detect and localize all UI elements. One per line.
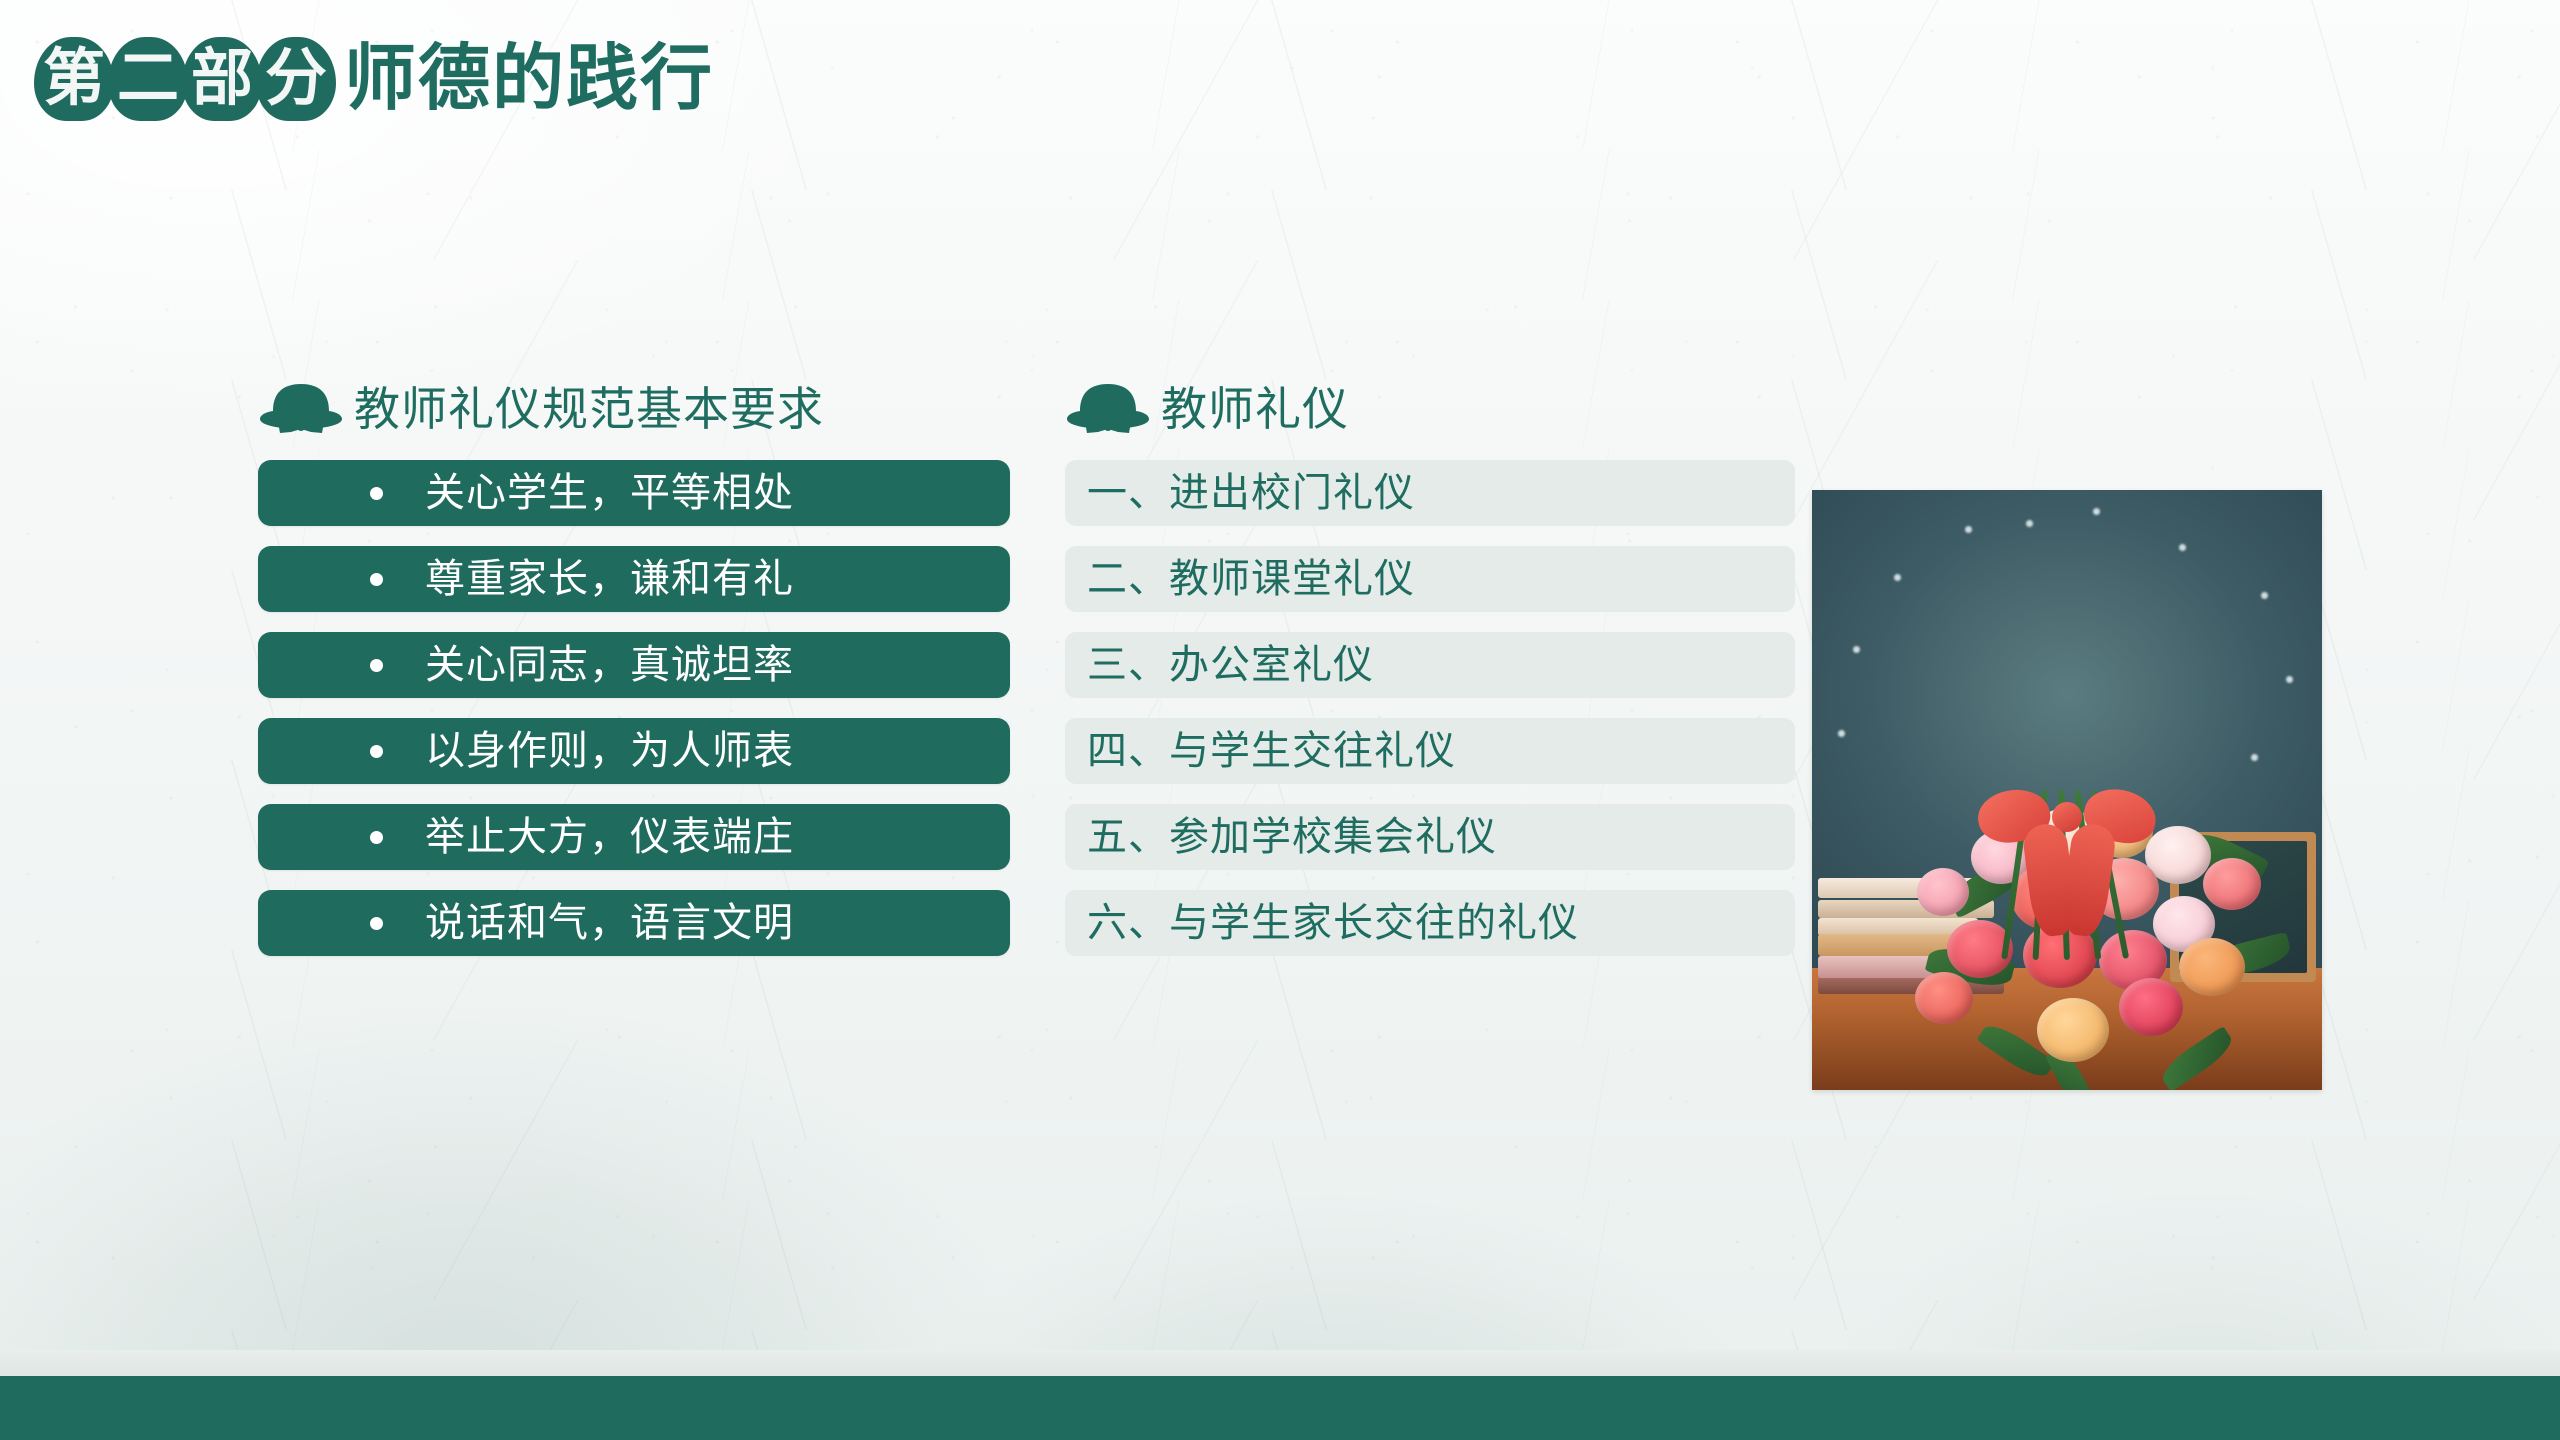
list-item-label: 关心学生，平等相处 — [425, 460, 794, 526]
bullet-dot-icon — [370, 487, 383, 500]
fedora-hat-icon — [258, 381, 344, 437]
list-item[interactable]: 尊重家长，谦和有礼 — [258, 546, 1010, 612]
list-item-label: 五、参加学校集会礼仪 — [1087, 804, 1497, 870]
list-item-label: 说话和气，语言文明 — [425, 890, 794, 956]
list-item[interactable]: 六、与学生家长交往的礼仪 — [1065, 890, 1795, 956]
left-column: 教师礼仪规范基本要求 关心学生，平等相处 尊重家长，谦和有礼 关心同志，真诚坦率… — [258, 378, 1010, 976]
list-item[interactable]: 以身作则，为人师表 — [258, 718, 1010, 784]
bullet-dot-icon — [370, 831, 383, 844]
list-item-label: 二、教师课堂礼仪 — [1087, 546, 1415, 612]
list-item-label: 六、与学生家长交往的礼仪 — [1087, 890, 1579, 956]
list-item[interactable]: 二、教师课堂礼仪 — [1065, 546, 1795, 612]
title-badge-3: 部 — [182, 37, 262, 121]
title-badge-2: 二 — [108, 37, 188, 121]
footer-light-band — [0, 1350, 2560, 1376]
list-item-label: 一、进出校门礼仪 — [1087, 460, 1415, 526]
title-badge-1: 第 — [34, 37, 114, 121]
title-subject: 师德的践行 — [344, 37, 714, 121]
list-item[interactable]: 四、与学生交往礼仪 — [1065, 718, 1795, 784]
bullet-dot-icon — [370, 917, 383, 930]
rose-bouquet-photo — [1812, 490, 2322, 1090]
list-item[interactable]: 五、参加学校集会礼仪 — [1065, 804, 1795, 870]
list-item-label: 关心同志，真诚坦率 — [425, 632, 794, 698]
list-item-label: 以身作则，为人师表 — [425, 718, 794, 784]
list-item[interactable]: 说话和气，语言文明 — [258, 890, 1010, 956]
fedora-hat-icon — [1065, 381, 1151, 437]
photo-ribbon-bow — [1972, 790, 2162, 940]
left-column-heading: 教师礼仪规范基本要求 — [354, 381, 824, 437]
slide-canvas: 第 二 部 分 师德的践行 教师礼仪规范基本要求 关心学生，平等相处 尊重家长， — [0, 0, 2560, 1440]
list-item-label: 三、办公室礼仪 — [1087, 632, 1374, 698]
list-item[interactable]: 关心学生，平等相处 — [258, 460, 1010, 526]
list-item-label: 四、与学生交往礼仪 — [1087, 718, 1456, 784]
right-column-header: 教师礼仪 — [1065, 378, 1795, 440]
right-column-heading: 教师礼仪 — [1161, 381, 1349, 437]
right-column: 教师礼仪 一、进出校门礼仪 二、教师课堂礼仪 三、办公室礼仪 四、与学生交往礼仪… — [1065, 378, 1795, 976]
title-badge-group: 第 二 部 分 — [34, 37, 330, 121]
title-badge-4: 分 — [256, 37, 336, 121]
list-item-label: 尊重家长，谦和有礼 — [425, 546, 794, 612]
left-column-header: 教师礼仪规范基本要求 — [258, 378, 1010, 440]
slide-title: 第 二 部 分 师德的践行 — [34, 24, 714, 134]
footer-bar — [0, 1376, 2560, 1440]
list-item[interactable]: 举止大方，仪表端庄 — [258, 804, 1010, 870]
bullet-dot-icon — [370, 745, 383, 758]
list-item-label: 举止大方，仪表端庄 — [425, 804, 794, 870]
list-item[interactable]: 三、办公室礼仪 — [1065, 632, 1795, 698]
bullet-dot-icon — [370, 659, 383, 672]
list-item[interactable]: 关心同志，真诚坦率 — [258, 632, 1010, 698]
bullet-dot-icon — [370, 573, 383, 586]
list-item[interactable]: 一、进出校门礼仪 — [1065, 460, 1795, 526]
